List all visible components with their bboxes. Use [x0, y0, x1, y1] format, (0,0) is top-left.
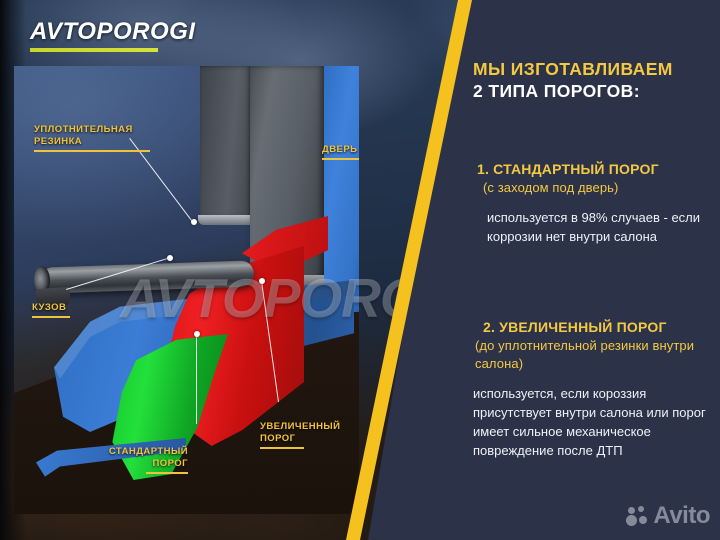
label-seal-rubber: УПЛОТНИТЕЛЬНАЯ РЕЗИНКА: [34, 124, 150, 152]
brand-logo-underline: [30, 48, 158, 52]
sill-type-2-description: используется, если короззия присутствует…: [473, 384, 720, 460]
heading-line-1: МЫ ИЗГОТАВЛИВАЕМ: [473, 58, 720, 80]
label-seal-rubber-line1: УПЛОТНИТЕЛЬНАЯ: [34, 124, 133, 135]
brand-logo-text: AVTOPOROGI: [30, 20, 195, 44]
label-door-text: ДВЕРЬ: [322, 144, 357, 155]
sill-diagram-panel: УПЛОТНИТЕЛЬНАЯ РЕЗИНКА ДВЕРЬ КУЗОВ СТАНД…: [14, 66, 359, 514]
sill-type-2-title: 2. УВЕЛИЧЕННЫЙ ПОРОГ: [473, 318, 720, 337]
label-door: ДВЕРЬ: [322, 144, 359, 160]
avito-dots-icon: [626, 506, 648, 527]
label-standard-sill-line1: СТАНДАРТНЫЙ: [109, 446, 188, 457]
brand-logo: AVTOPOROGI: [30, 20, 195, 52]
leader-dot-seal: [191, 219, 197, 225]
leader-dot-standard: [194, 331, 200, 337]
label-standard-sill-underline: [146, 472, 188, 474]
label-seal-rubber-underline: [34, 150, 150, 152]
avito-watermark: Avito: [626, 504, 710, 528]
sill-type-1-description: используется в 98% случаев - если корроз…: [473, 208, 720, 246]
sill-type-block-2: 2. УВЕЛИЧЕННЫЙ ПОРОГ (до уплотнительной …: [473, 318, 720, 460]
sill-type-2-subtitle: (до уплотнительной резинки внутри салона…: [473, 337, 720, 373]
poster-canvas: AVTOPOROGI УПЛОТНИТЕЛЬНАЯ РЕЗИНКА: [0, 0, 720, 540]
label-enlarged-sill-underline: [260, 447, 304, 449]
label-standard-sill-line2: ПОРОГ: [153, 458, 188, 469]
label-body: КУЗОВ: [32, 302, 70, 318]
label-body-text: КУЗОВ: [32, 302, 66, 313]
label-seal-rubber-line2: РЕЗИНКА: [34, 136, 82, 147]
heading-line-2: 2 ТИПА ПОРОГОВ:: [473, 80, 720, 102]
avito-wordmark: Avito: [653, 504, 710, 528]
info-panel-heading: МЫ ИЗГОТАВЛИВАЕМ 2 ТИПА ПОРОГОВ:: [473, 58, 720, 102]
leader-dot-enlarged: [259, 278, 265, 284]
label-body-underline: [32, 316, 70, 318]
leader-line-standard: [196, 334, 197, 424]
sill-type-1-subtitle: (с заходом под дверь): [473, 179, 720, 197]
label-enlarged-sill: УВЕЛИЧЕННЫЙ ПОРОГ: [260, 421, 340, 449]
leader-dot-body: [167, 255, 173, 261]
label-door-underline: [322, 158, 359, 160]
label-standard-sill: СТАНДАРТНЫЙ ПОРОГ: [92, 446, 188, 474]
door-outer-blue-shape: [324, 66, 359, 312]
label-enlarged-sill-line1: УВЕЛИЧЕННЫЙ: [260, 421, 340, 432]
door-inner-skin: [200, 66, 252, 218]
sill-type-block-1: 1. СТАНДАРТНЫЙ ПОРОГ (с заходом под двер…: [473, 160, 720, 246]
sill-type-1-title: 1. СТАНДАРТНЫЙ ПОРОГ: [473, 160, 720, 179]
label-enlarged-sill-line2: ПОРОГ: [260, 433, 295, 444]
